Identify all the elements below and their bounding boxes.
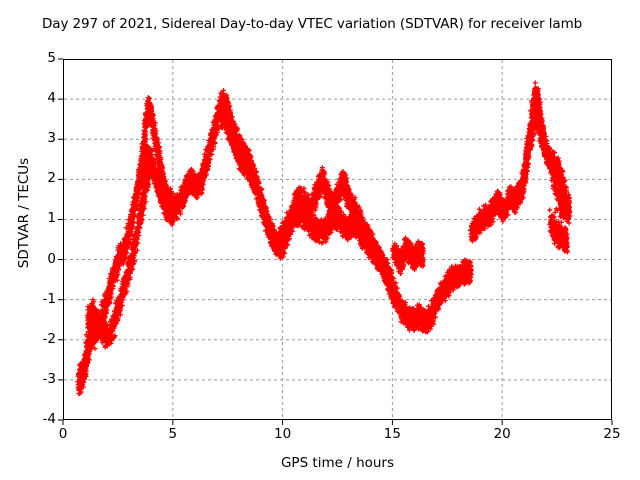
x-tick-label: 0 <box>33 428 93 442</box>
y-tick-label: 5 <box>16 52 56 66</box>
y-tick-label: 3 <box>16 132 56 146</box>
chart-title: Day 297 of 2021, Sidereal Day-to-day VTE… <box>42 16 582 32</box>
x-tick-label: 15 <box>362 428 422 442</box>
y-tick-label: -2 <box>16 333 56 347</box>
y-tick-label: -3 <box>16 373 56 387</box>
x-tick-label: 20 <box>472 428 532 442</box>
x-tick-label: 25 <box>582 428 640 442</box>
x-tick-label: 10 <box>253 428 313 442</box>
chart-container: Day 297 of 2021, Sidereal Day-to-day VTE… <box>0 0 640 480</box>
y-tick-label: 4 <box>16 92 56 106</box>
y-tick-label: -4 <box>16 413 56 427</box>
y-tick-label: 1 <box>16 212 56 226</box>
x-axis-label: GPS time / hours <box>63 455 612 471</box>
y-tick-label: -1 <box>16 293 56 307</box>
y-tick-label: 0 <box>16 253 56 267</box>
x-tick-label: 5 <box>143 428 203 442</box>
plot-area <box>63 59 612 420</box>
y-tick-label: 2 <box>16 172 56 186</box>
